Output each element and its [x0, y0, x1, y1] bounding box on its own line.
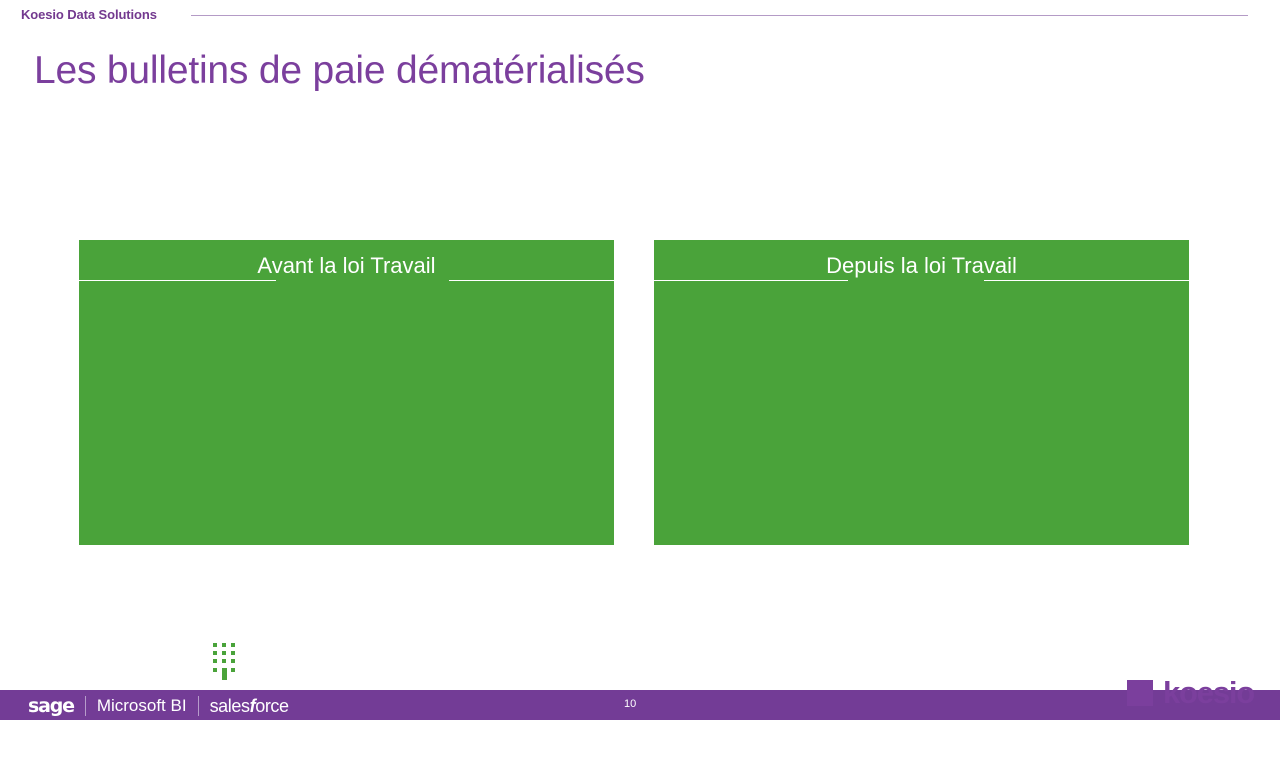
building-window — [222, 651, 226, 655]
building-window — [213, 668, 217, 672]
panel-title: Avant la loi Travail — [79, 252, 614, 280]
building-window — [222, 659, 226, 663]
employee-person-icon — [369, 638, 417, 692]
koesio-logo: koesio — [1127, 680, 1254, 706]
salesforce-logo: salesforce — [210, 696, 289, 717]
panel-title-rule-left — [79, 280, 276, 281]
panel-title-rule-left — [654, 280, 848, 281]
building-window — [231, 643, 235, 647]
arrow-head-employer-to-employee — [351, 659, 359, 669]
logo-separator — [198, 696, 199, 716]
question-text: « Voulez-vous passer à la démat' ? » — [248, 602, 377, 638]
koesio-logo-mark — [1127, 680, 1153, 706]
building-window — [222, 643, 226, 647]
building-window — [231, 659, 235, 663]
panel-avant-la-loi-travail: Avant la loi Travail Employeur « Voulez-… — [79, 240, 614, 545]
building-window — [213, 651, 217, 655]
building-base — [203, 680, 245, 686]
building-window — [231, 651, 235, 655]
person-body — [372, 663, 415, 690]
building-roof — [212, 630, 236, 636]
person-head — [383, 638, 404, 659]
page-number: 10 — [624, 698, 636, 710]
building-window — [213, 659, 217, 663]
branch-top-outcome: Zéro papier — [507, 617, 575, 633]
arrow-shaft-employer-to-employee — [257, 663, 353, 665]
panel-title-rule-right — [449, 280, 639, 281]
partner-logos: sage Microsoft BI salesforce — [28, 695, 289, 717]
brand-eyebrow: Koesio Data Solutions — [21, 7, 157, 22]
panel-title-rule-right — [984, 280, 1214, 281]
microsoft-bi-logo: Microsoft BI — [97, 696, 187, 716]
salesforce-logo-part-c: orce — [255, 696, 288, 716]
koesio-logo-wordmark: koesio — [1163, 680, 1254, 706]
header-divider-rule — [191, 15, 1248, 16]
building-window — [231, 668, 235, 672]
sage-logo: sage — [28, 695, 74, 717]
branch-top-vertical — [399, 614, 401, 642]
page-title: Les bulletins de paie dématérialisés — [34, 49, 645, 93]
building-icon — [203, 630, 245, 686]
building-window — [213, 643, 217, 647]
panel-title: Depuis la loi Travail — [654, 252, 1189, 280]
salesforce-logo-part-a: sales — [210, 696, 250, 716]
panel-depuis-la-loi-travail: Depuis la loi Travail Employeur « Nous a… — [654, 240, 1189, 545]
logo-separator — [85, 696, 86, 716]
building-door — [222, 668, 227, 680]
top-header: Koesio Data Solutions — [0, 0, 1280, 28]
